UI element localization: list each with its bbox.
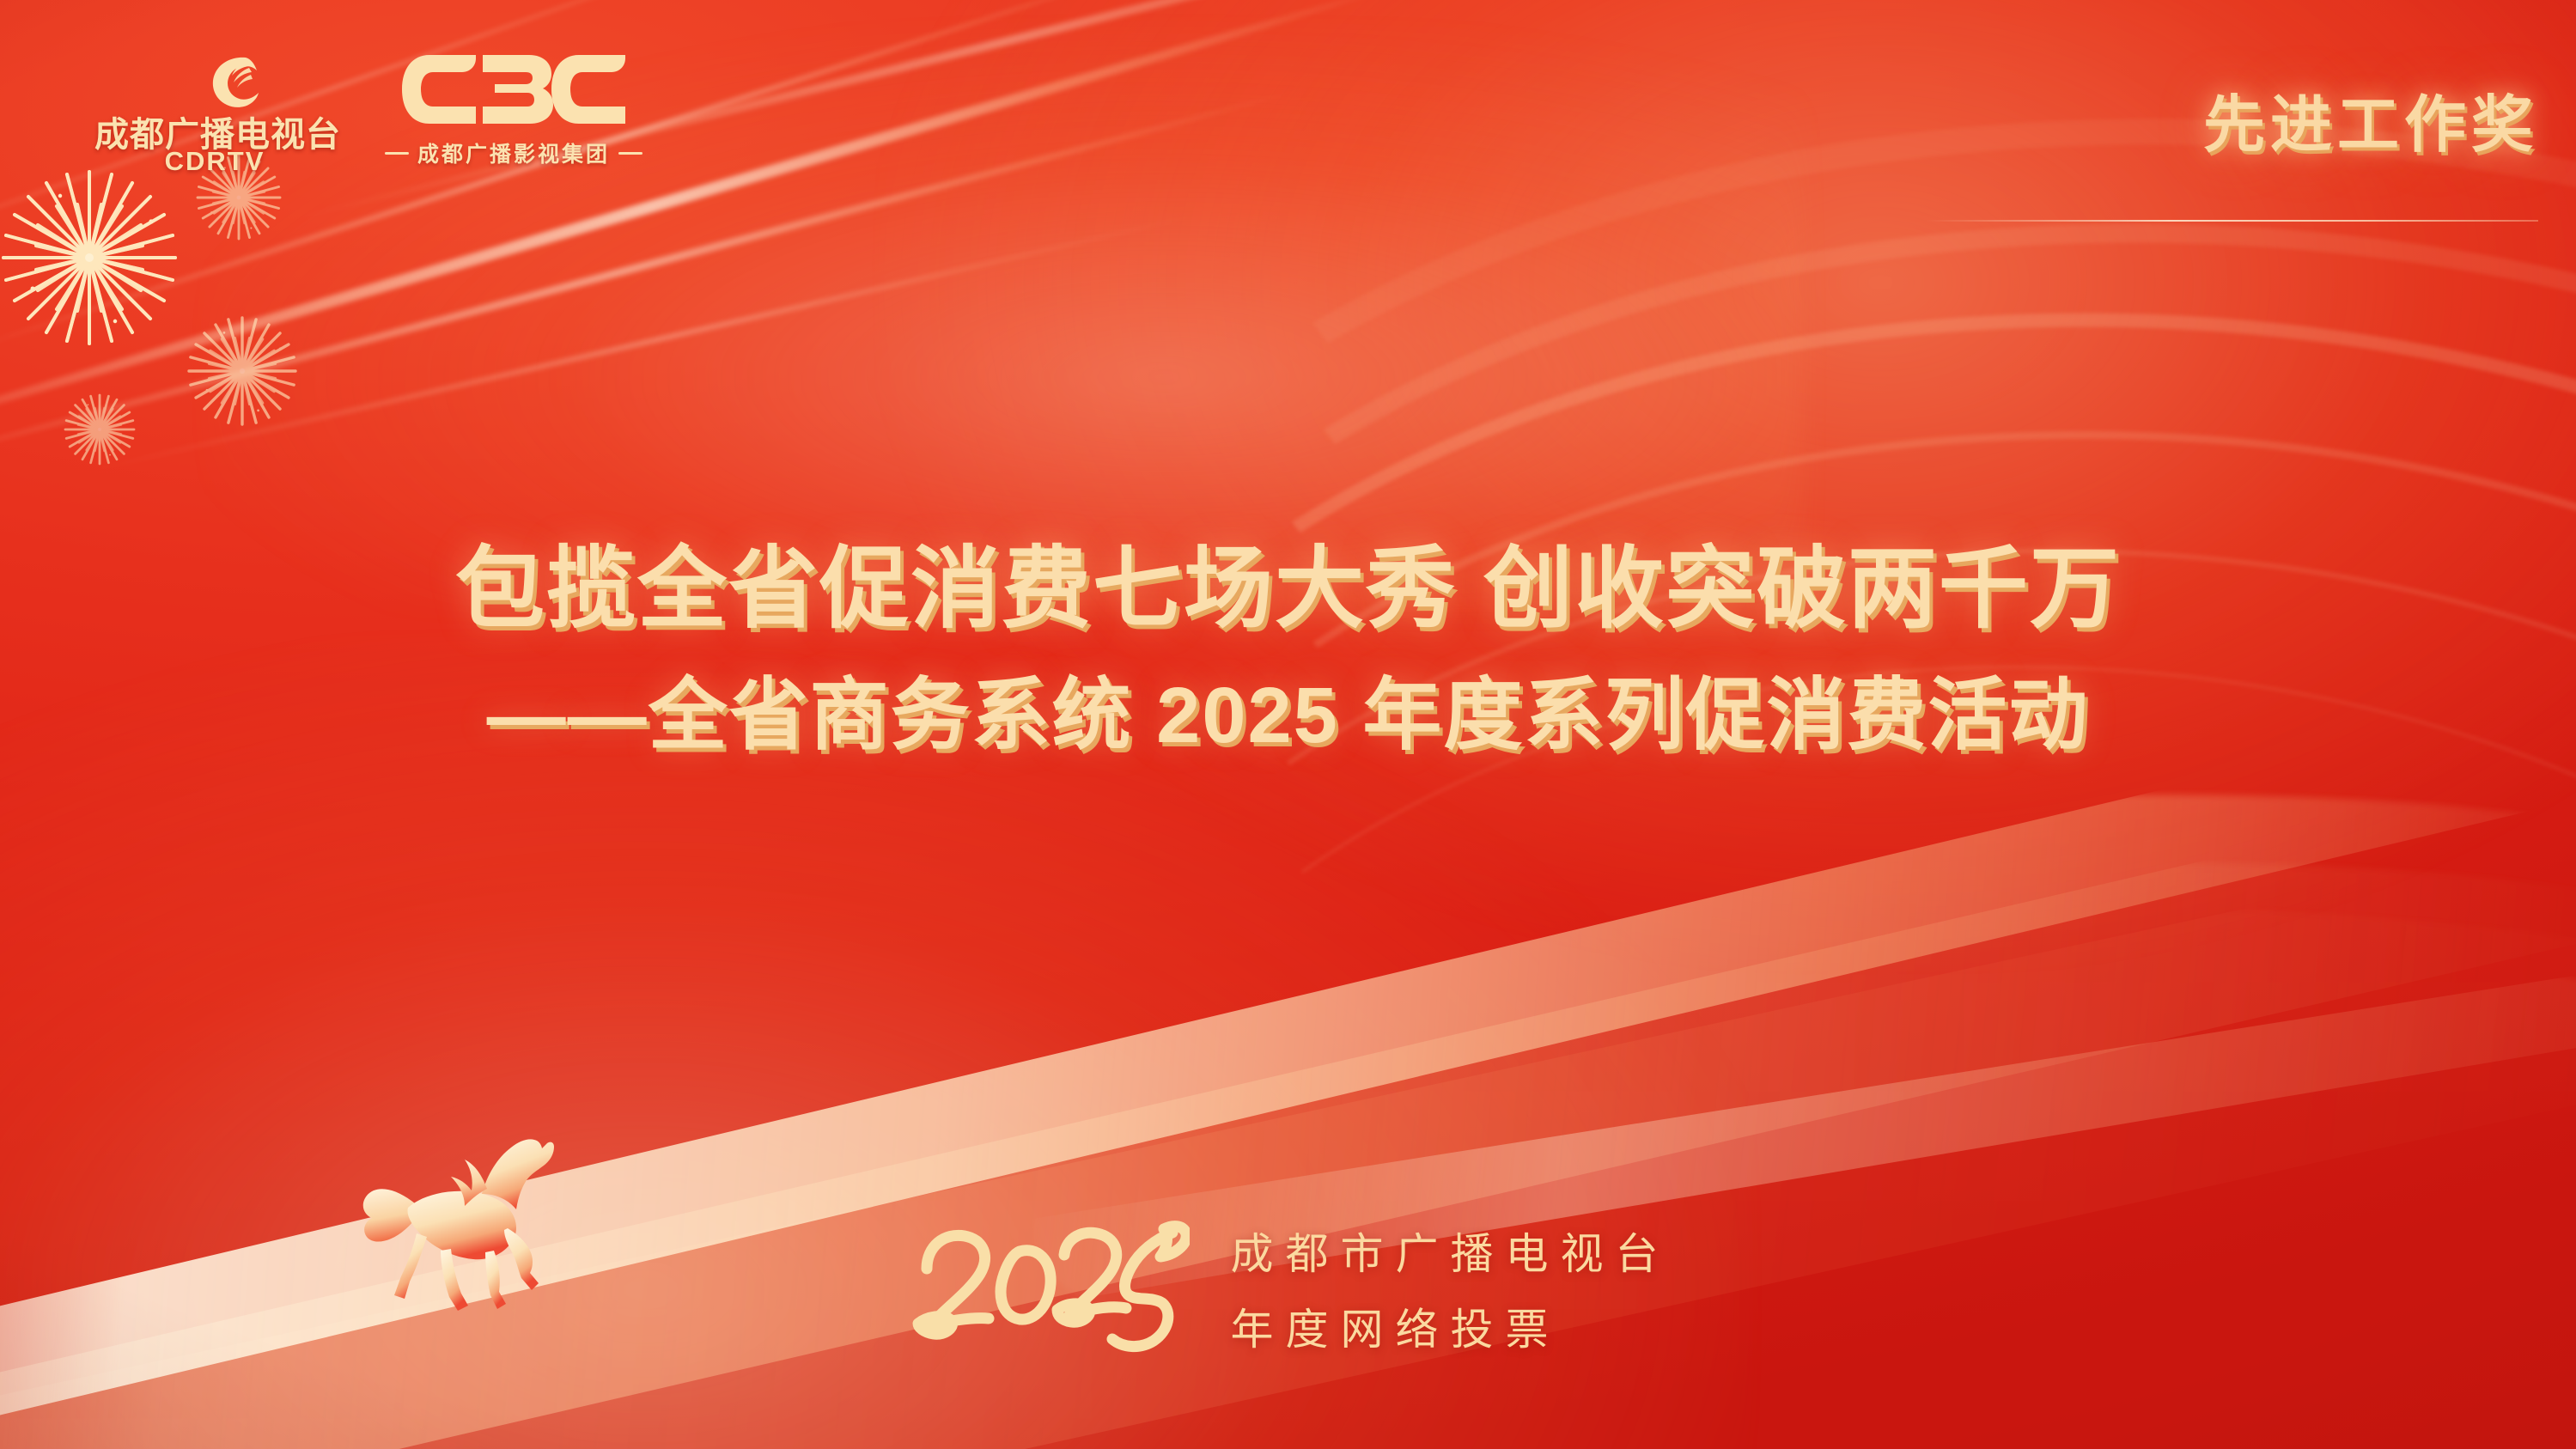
award-label: 先进工作奖 bbox=[2057, 74, 2538, 164]
footer-line-2: 年度网络投票 bbox=[1231, 1295, 1671, 1357]
footer-lockup: 成都市广播电视台 年度网络投票 bbox=[0, 1207, 2576, 1370]
footer-line-1: 成都市广播电视台 bbox=[1231, 1220, 1671, 1282]
page-subtitle: ——全省商务系统 2025 年度系列促消费活动 bbox=[0, 666, 2576, 767]
brand-cbc[interactable]: 成都广播影视集团 bbox=[385, 41, 642, 196]
title-block: 包揽全省促消费七场大秀 创收突破两千万 ——全省商务系统 2025 年度系列促消… bbox=[0, 533, 2576, 767]
rule-right bbox=[618, 152, 642, 155]
page-title: 包揽全省促消费七场大秀 创收突破两千万 bbox=[0, 533, 2576, 647]
brand-cbc-name-cn: 成都广播影视集团 bbox=[417, 137, 610, 168]
2025-script-icon bbox=[906, 1207, 1190, 1370]
brand-cdrtv-name-en: CDRTV bbox=[94, 146, 335, 177]
rule-left bbox=[385, 152, 409, 155]
award-underline bbox=[1927, 220, 2538, 222]
brand-cbc-subtitle: 成都广播影视集团 bbox=[385, 137, 642, 168]
poster-canvas: 成都广播电视台 CDRTV 成都广播影视集团 bbox=[0, 0, 2576, 1449]
brand-cdrtv[interactable]: 成都广播电视台 CDRTV bbox=[94, 53, 335, 191]
poster-header: 成都广播电视台 CDRTV 成都广播影视集团 bbox=[0, 0, 2576, 258]
award-badge: 先进工作奖 bbox=[2057, 74, 2538, 164]
footer-text: 成都市广播电视台 年度网络投票 bbox=[1231, 1220, 1671, 1357]
phoenix-c-mark-icon bbox=[208, 53, 263, 110]
cbc-wordmark-icon bbox=[400, 50, 627, 129]
